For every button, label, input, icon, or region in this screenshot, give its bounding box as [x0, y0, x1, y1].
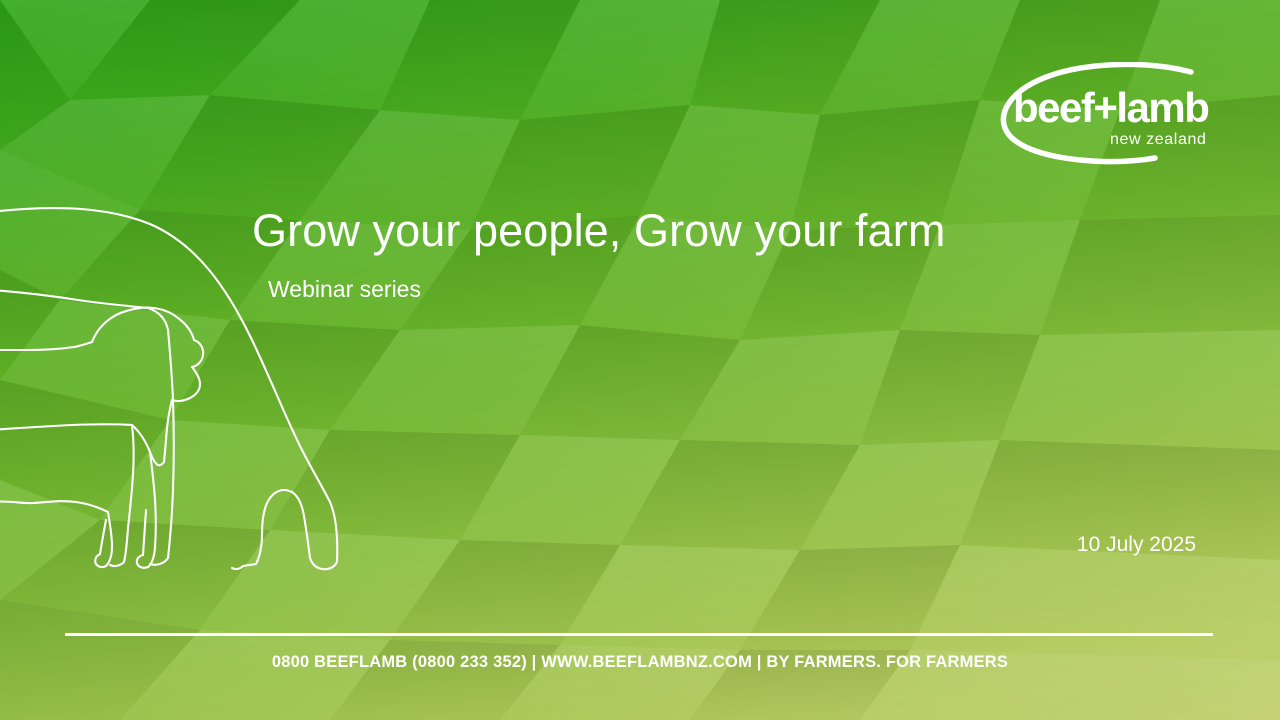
logo-tagline: new zealand: [1110, 131, 1206, 148]
presentation-slide: beef+lamb new zealand Grow your people, …: [0, 0, 1280, 720]
beef-lamb-new-zealand-logo: beef+lamb new zealand: [995, 62, 1220, 167]
logo-wordmark: beef+lamb: [1013, 84, 1208, 131]
slide-subtitle: Webinar series: [268, 276, 421, 303]
slide-title: Grow your people, Grow your farm: [252, 205, 945, 257]
footer-contact-text: 0800 BEEFLAMB (0800 233 352) | WWW.BEEFL…: [0, 653, 1280, 672]
footer-divider: [65, 633, 1213, 636]
slide-date: 10 July 2025: [1077, 533, 1196, 557]
